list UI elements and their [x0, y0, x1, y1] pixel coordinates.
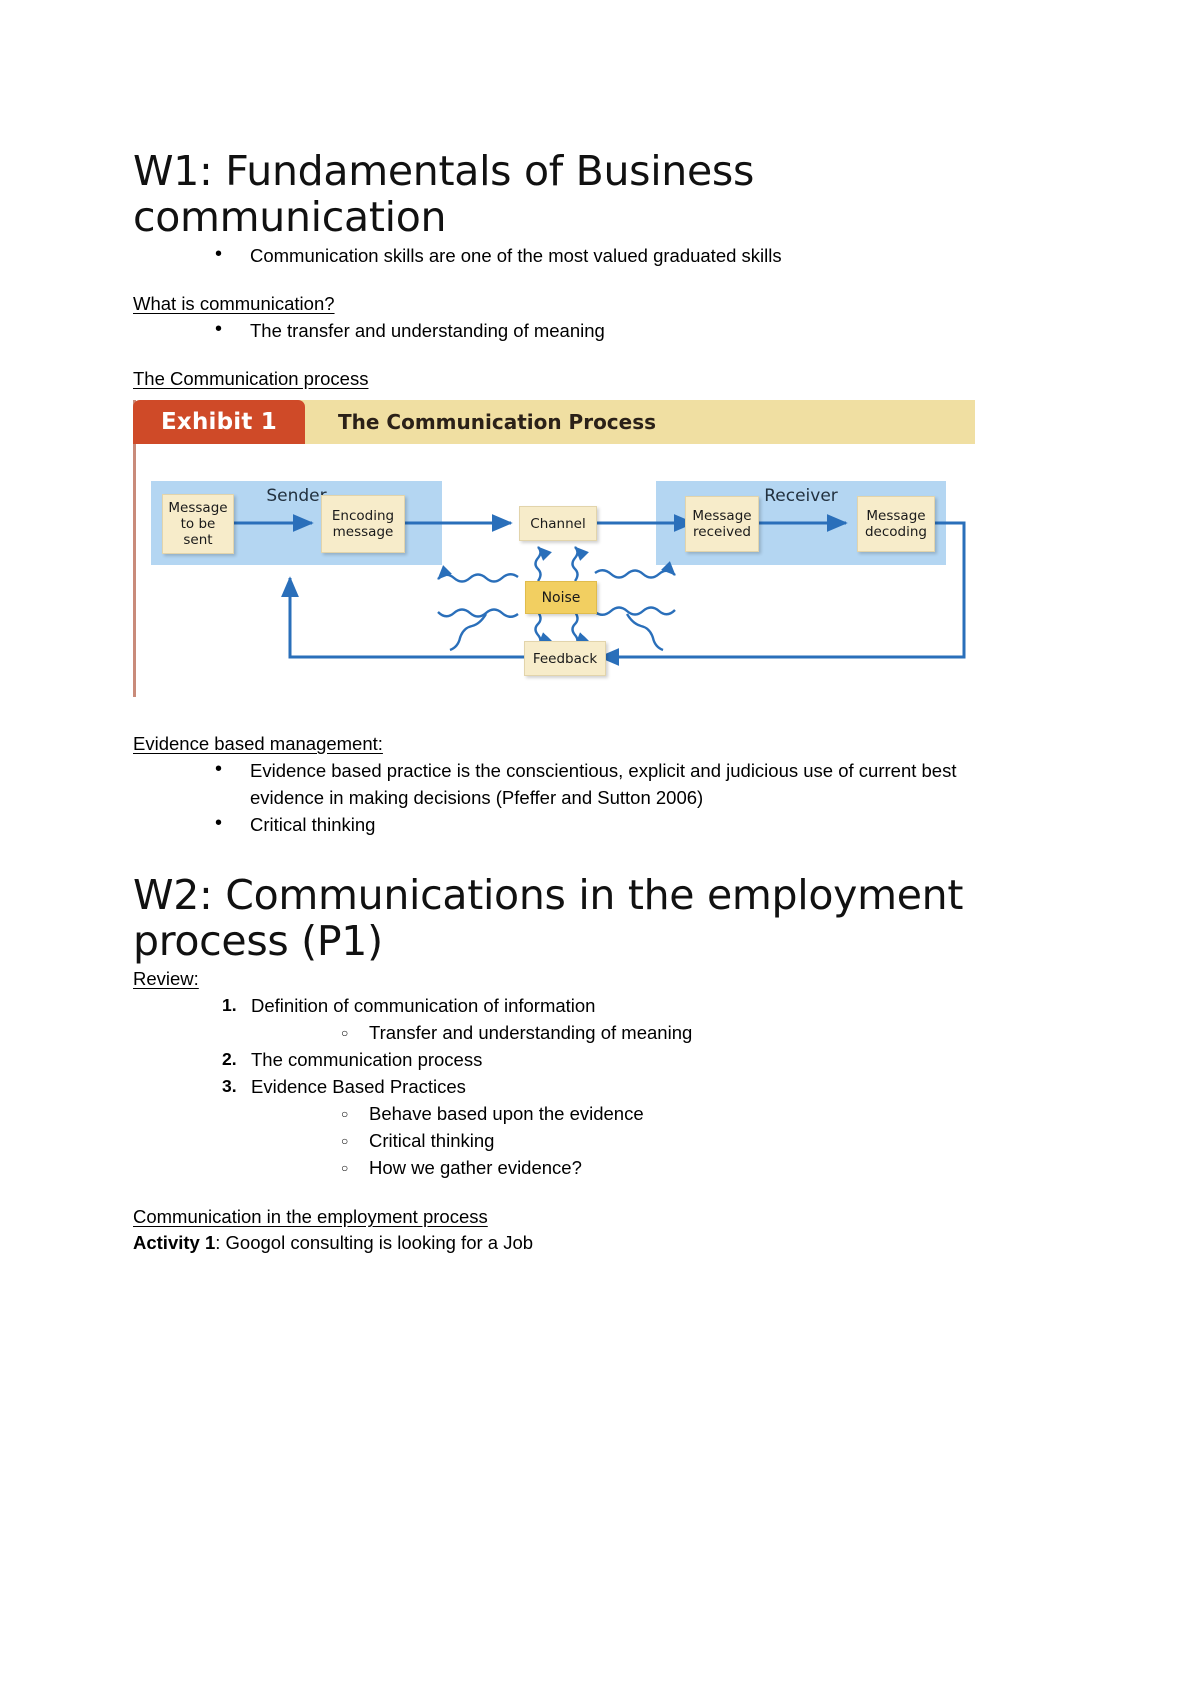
diagram-node-message-decoding: Message decoding — [857, 496, 935, 552]
spacer — [133, 344, 1063, 366]
closing-heading-wrap: Communication in the employment process — [133, 1203, 1063, 1230]
node-label-line1: Message — [866, 508, 925, 524]
list-item-number: 1. — [222, 992, 237, 1019]
spacer — [133, 697, 1063, 731]
review-label-wrap: Review: — [133, 966, 1063, 992]
section-heading-w2-line1: W2: Communications in the employment — [133, 872, 1063, 918]
list-item-label: Evidence Based Practices — [251, 1076, 466, 1097]
w1-intro-bullet-list: Communication skills are one of the most… — [133, 242, 1063, 269]
subheading-evidence-based-management-wrap: Evidence based management: — [133, 731, 1063, 757]
subheading-communication-process-wrap: The Communication process — [133, 366, 1063, 392]
list-item: How we gather evidence? — [341, 1154, 1063, 1181]
list-item: Critical thinking — [215, 811, 1063, 838]
node-label-line3: sent — [183, 532, 212, 548]
exhibit-title: The Communication Process — [338, 400, 656, 444]
subheading-what-is-communication-wrap: What is communication? — [133, 291, 1063, 317]
review-numbered-list: 1. Definition of communication of inform… — [133, 992, 1063, 1181]
node-label-line2: received — [693, 524, 751, 540]
spacer — [133, 838, 1063, 872]
exhibit-diagram-body: Sender Receiver — [140, 444, 975, 697]
document-content: W1: Fundamentals of Business communicati… — [133, 148, 1063, 1256]
diagram-node-channel: Channel — [519, 506, 597, 541]
spacer — [133, 1181, 1063, 1203]
list-item: Critical thinking — [341, 1127, 1063, 1154]
activity-label: Activity 1 — [133, 1232, 215, 1253]
exhibit-left-rule — [133, 400, 136, 697]
list-item-number: 2. — [222, 1046, 237, 1073]
list-item-line1: Evidence based practice is the conscient… — [250, 757, 1063, 784]
diagram-node-noise: Noise — [525, 581, 597, 614]
node-label-line2: decoding — [865, 524, 927, 540]
node-label: Feedback — [533, 651, 597, 667]
list-item: 3. Evidence Based Practices — [222, 1073, 1063, 1100]
section-heading-w2: W2: Communications in the employment pro… — [133, 872, 1063, 964]
section-heading-w1-line2: communication — [133, 194, 1063, 240]
exhibit-number-tab: Exhibit 1 — [133, 400, 305, 444]
list-item: 2. The communication process — [222, 1046, 1063, 1073]
section-heading-w1: W1: Fundamentals of Business communicati… — [133, 148, 1063, 240]
diagram-node-encoding-message: Encoding message — [321, 495, 405, 553]
node-label-line1: Encoding — [332, 508, 394, 524]
node-label-line2: to be — [181, 516, 216, 532]
list-item: 1. Definition of communication of inform… — [222, 992, 1063, 1019]
node-label-line1: Message — [168, 500, 227, 516]
w1-definition-bullet-list: The transfer and understanding of meanin… — [133, 317, 1063, 344]
diagram-node-message-received: Message received — [685, 496, 759, 552]
section-heading-w2-line2: process (P1) — [133, 918, 1063, 964]
list-item-number: 3. — [222, 1073, 237, 1100]
activity-line: Activity 1: Googol consulting is looking… — [133, 1230, 1063, 1256]
document-page: W1: Fundamentals of Business communicati… — [0, 0, 1200, 1698]
node-label: Noise — [542, 590, 581, 606]
diagram-node-message-to-be-sent: Message to be sent — [162, 494, 234, 554]
subheading-what-is-communication: What is communication? — [133, 291, 335, 317]
list-item: Evidence based practice is the conscient… — [215, 757, 1063, 811]
list-item: Communication skills are one of the most… — [215, 242, 1063, 269]
node-label-line2: message — [333, 524, 394, 540]
closing-heading: Communication in the employment process — [133, 1204, 488, 1230]
list-item-line2: evidence in making decisions (Pfeffer an… — [250, 784, 1063, 811]
activity-text: : Googol consulting is looking for a Job — [215, 1232, 533, 1253]
exhibit-number-label: Exhibit 1 — [161, 409, 277, 435]
ebm-bullet-list: Evidence based practice is the conscient… — [133, 757, 1063, 838]
closing-block: Communication in the employment process … — [133, 1203, 1063, 1256]
review-label: Review: — [133, 966, 199, 992]
list-item: Behave based upon the evidence — [341, 1100, 1063, 1127]
list-item: The transfer and understanding of meanin… — [215, 317, 1063, 344]
list-item: Transfer and understanding of meaning — [341, 1019, 1063, 1046]
diagram-node-feedback: Feedback — [524, 641, 606, 676]
list-item-label: Definition of communication of informati… — [251, 995, 595, 1016]
subheading-evidence-based-management: Evidence based management: — [133, 731, 383, 757]
subheading-communication-process: The Communication process — [133, 366, 368, 392]
node-label-line1: Message — [692, 508, 751, 524]
exhibit-figure: Exhibit 1 The Communication Process Send… — [133, 400, 975, 697]
list-item-label: The communication process — [251, 1049, 482, 1070]
section-heading-w1-line1: W1: Fundamentals of Business — [133, 148, 1063, 194]
spacer — [133, 269, 1063, 291]
node-label: Channel — [530, 516, 585, 532]
